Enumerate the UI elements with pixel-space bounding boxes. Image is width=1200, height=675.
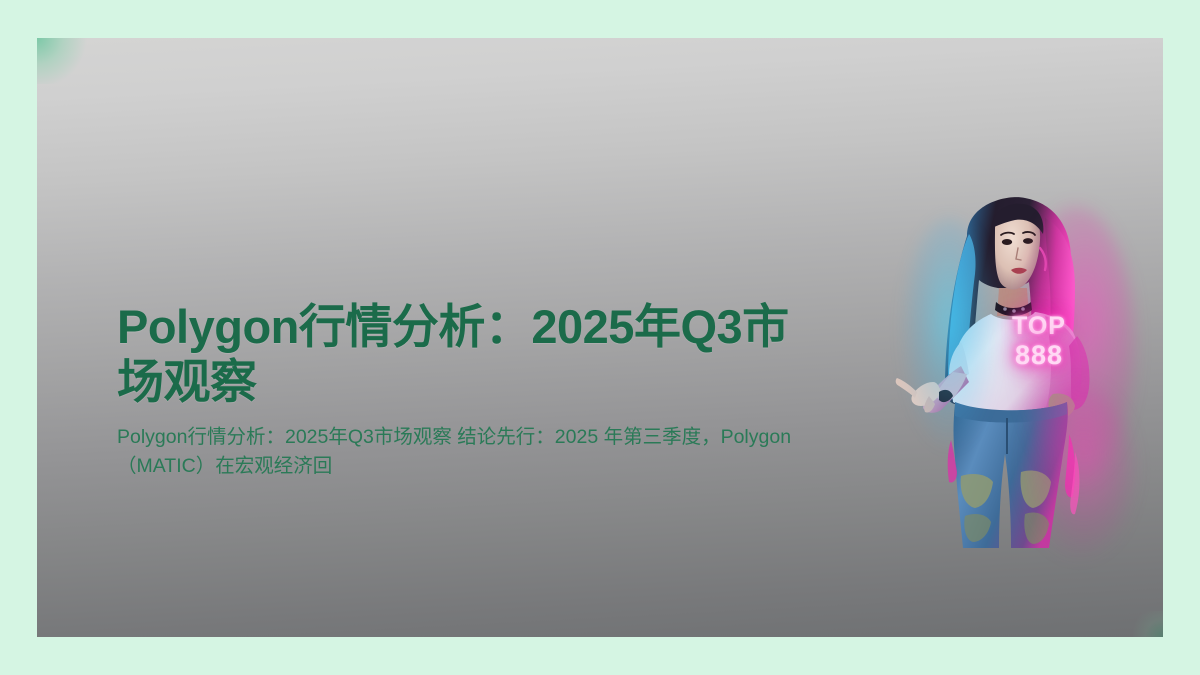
page-subtitle: Polygon行情分析：2025年Q3市场观察 结论先行：2025 年第三季度，…	[117, 423, 817, 482]
eye-left	[1002, 239, 1012, 245]
slide-root: Polygon行情分析：2025年Q3市场观察 Polygon行情分析：2025…	[0, 0, 1200, 675]
panel-corner-tint-bottom-right	[1133, 611, 1163, 637]
choker-stud-3	[1021, 307, 1025, 311]
choker-stud-2	[1012, 309, 1016, 313]
title-block: Polygon行情分析：2025年Q3市场观察 Polygon行情分析：2025…	[117, 300, 817, 482]
index-finger	[896, 378, 917, 398]
panel-corner-tint-top-left	[37, 38, 89, 84]
choker-stud-1	[1003, 307, 1007, 311]
arm-right	[1069, 336, 1090, 410]
eye-right	[1023, 238, 1033, 244]
figure-svg	[895, 196, 1130, 548]
content-panel: Polygon行情分析：2025年Q3市场观察 Polygon行情分析：2025…	[37, 38, 1163, 637]
hand-pointing	[921, 292, 935, 392]
neon-woman-illustration: TOP 888	[895, 196, 1130, 548]
page-title: Polygon行情分析：2025年Q3市场观察	[117, 300, 817, 409]
